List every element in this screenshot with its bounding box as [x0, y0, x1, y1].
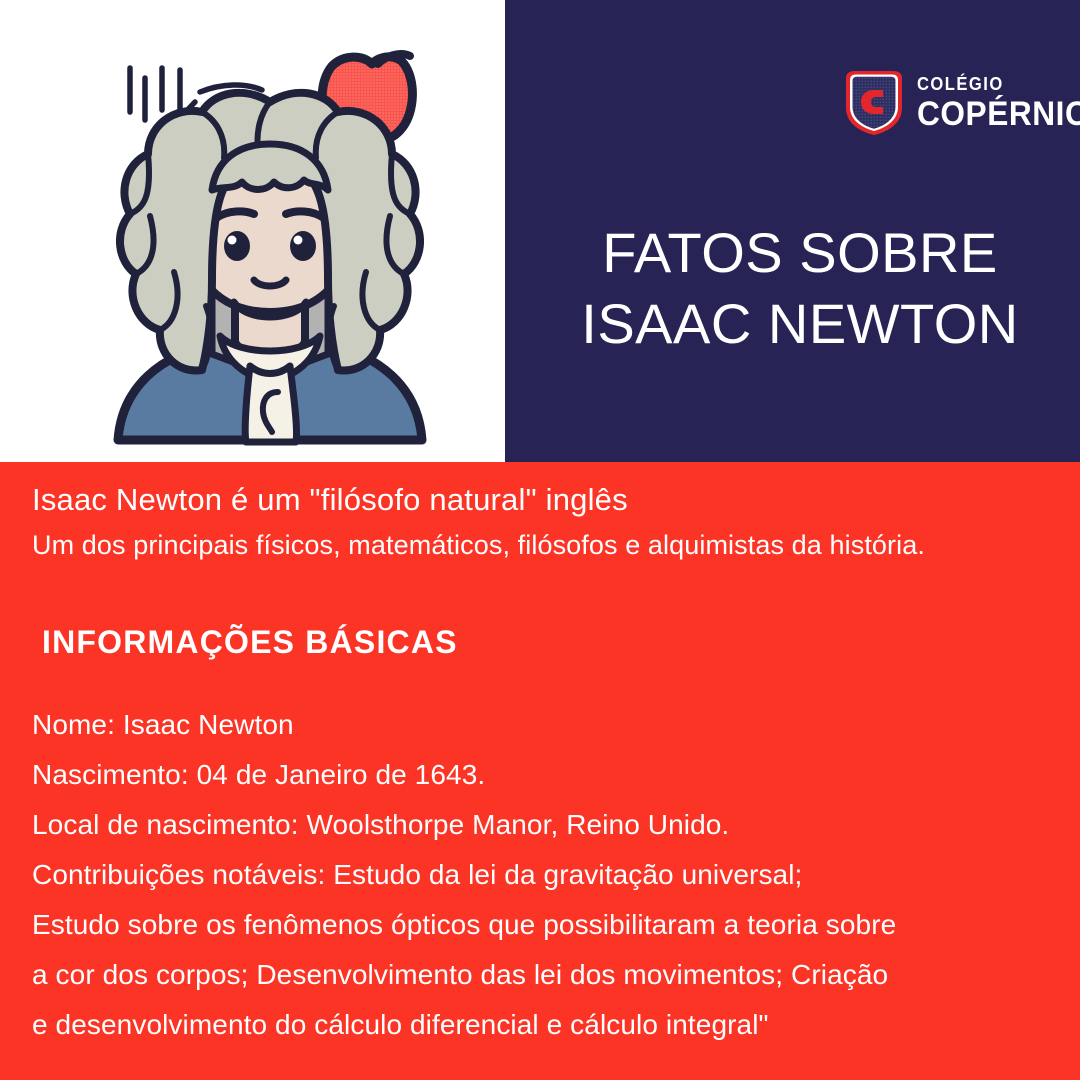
page-title-line-2: ISAAC NEWTON: [540, 289, 1060, 360]
intro-line-2: Um dos principais físicos, matemáticos, …: [32, 530, 925, 561]
fact-line: Contribuições notáveis: Estudo da lei da…: [32, 850, 1052, 900]
brand-logo[interactable]: COLÉGIO COPÉRNICO: [843, 68, 1080, 138]
newton-illustration: [100, 40, 440, 450]
page-title-line-1: FATOS SOBRE: [540, 218, 1060, 289]
brand-logo-wordmark: COLÉGIO COPÉRNICO: [917, 75, 1080, 131]
fact-line: Nome: Isaac Newton: [32, 700, 1052, 750]
brand-line-colegio: COLÉGIO: [917, 75, 1080, 93]
fact-line: a cor dos corpos; Desenvolvimento das le…: [32, 950, 1052, 1000]
shield-c-monogram-logo-icon: [843, 68, 905, 138]
section-heading-informacoes-basicas: INFORMAÇÕES BÁSICAS: [42, 624, 458, 661]
newton-portrait: [118, 93, 422, 442]
facts-list: Nome: Isaac Newton Nascimento: 04 de Jan…: [32, 700, 1052, 1050]
fact-line: Nascimento: 04 de Janeiro de 1643.: [32, 750, 1052, 800]
intro-line-1: Isaac Newton é um "filósofo natural" ing…: [32, 482, 628, 518]
fact-line: e desenvolvimento do cálculo diferencial…: [32, 1000, 1052, 1050]
page-title: FATOS SOBRE ISAAC NEWTON: [540, 218, 1060, 359]
poster-canvas: COLÉGIO COPÉRNICO FATOS SOBRE ISAAC NEWT…: [0, 0, 1080, 1080]
top-section: COLÉGIO COPÉRNICO FATOS SOBRE ISAAC NEWT…: [0, 0, 1080, 462]
fact-line: Estudo sobre os fenômenos ópticos que po…: [32, 900, 1052, 950]
fact-line: Local de nascimento: Woolsthorpe Manor, …: [32, 800, 1052, 850]
brand-line-copernico: COPÉRNICO: [917, 97, 1080, 131]
newton-illustration-svg: [100, 40, 440, 450]
content-panel: Isaac Newton é um "filósofo natural" ing…: [0, 462, 1080, 1080]
